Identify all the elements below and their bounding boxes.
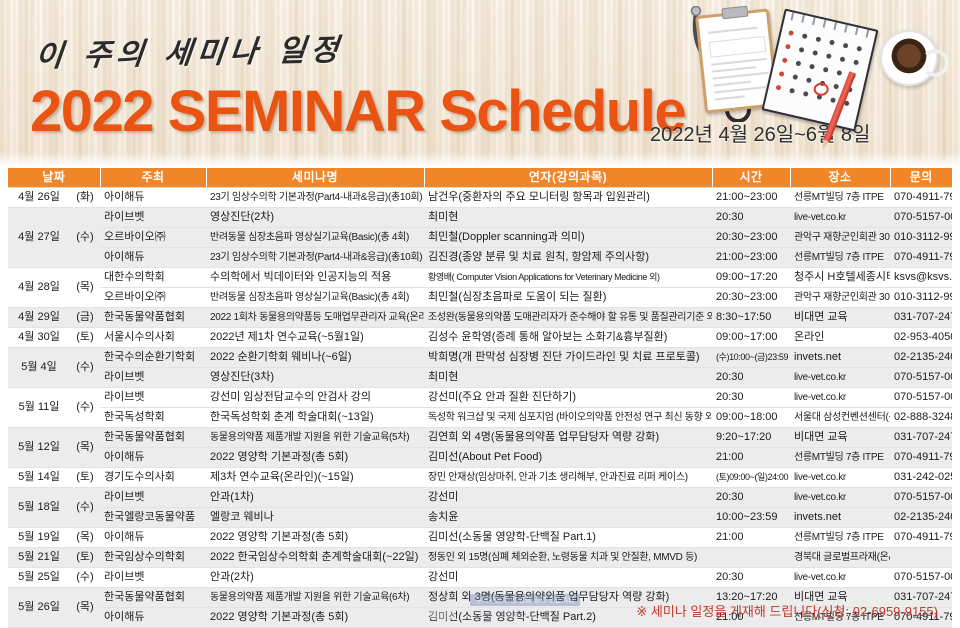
- cell-seminar-name: 영상진단(2차): [206, 208, 424, 228]
- table-row[interactable]: 5월 25일(수)라이브벳안과(2차)강선미20:30live-vet.co.k…: [8, 568, 952, 588]
- cell-date: 5월 11일: [8, 388, 70, 428]
- cell-time: (수)10:00~(금)23:59: [712, 348, 790, 368]
- cell-host: 한국엘랑코동물약품: [100, 508, 206, 528]
- cell-place: 관악구 재향군인회관 301호: [790, 288, 890, 308]
- table-row[interactable]: 한국독성학회한국독성학회 춘계 학술대회(~13일)독성학 워크샵 및 국제 심…: [8, 408, 952, 428]
- cell-contact: 010-3112-9924: [890, 288, 952, 308]
- banner-artwork: [676, 4, 946, 154]
- cell-seminar-name: 반려동물 심장초음파 영상실기교육(Basic)(총 4회): [206, 228, 424, 248]
- cell-seminar-name: 2022 순환기학회 웨비나(~6일): [206, 348, 424, 368]
- cell-day-of-week: (화): [70, 188, 100, 208]
- cell-seminar-name: 수의학에서 빅데이터와 인공지능의 적용: [206, 268, 424, 288]
- cell-contact: 070-4911-7921: [890, 528, 952, 548]
- cell-time: 21:00: [712, 528, 790, 548]
- cell-lecturer: 김성수 윤학영(증례 통해 알아보는 소화기&흉부질환): [424, 328, 712, 348]
- cell-date: 5월 14일: [8, 468, 70, 488]
- table-row[interactable]: 4월 26일(화)아이해듀23기 임상수의학 기본과정(Part4-내과&응급)…: [8, 188, 952, 208]
- cell-time: 10:00~23:59: [712, 508, 790, 528]
- cell-lecturer: 강선미: [424, 488, 712, 508]
- table-row[interactable]: 5월 19일(목)아이해듀2022 영양학 기본과정(총 5회)김미선(소동물 …: [8, 528, 952, 548]
- table-row[interactable]: 5월 21일(토)한국임상수의학회2022 한국임상수의학회 춘계학술대회(~2…: [8, 548, 952, 568]
- cell-host: 라이브벳: [100, 488, 206, 508]
- cell-contact: 031-707-2470: [890, 308, 952, 328]
- col-header-time[interactable]: 시간: [712, 168, 790, 188]
- clipboard-clip: [721, 6, 748, 20]
- cell-seminar-name: 안과(1차): [206, 488, 424, 508]
- cell-contact: 02-953-4050: [890, 328, 952, 348]
- cell-seminar-name: 2022 1회차 동물용의약품등 도매업무관리자 교육(온라인): [206, 308, 424, 328]
- cell-contact: 031-242-0258: [890, 468, 952, 488]
- cell-place: live-vet.co.kr: [790, 388, 890, 408]
- table-row[interactable]: 오르바이오㈜반려동물 심장초음파 영상실기교육(Basic)(총 4회)최민철(…: [8, 228, 952, 248]
- col-header-lecturer[interactable]: 연자(강의과목): [424, 168, 712, 188]
- cell-time: 21:00~23:00: [712, 248, 790, 268]
- cell-lecturer: 조성완(동물용의약품 도매관리자가 준수해야 할 유통 및 품질관리기준 외): [424, 308, 712, 328]
- cell-seminar-name: 영상진단(3차): [206, 368, 424, 388]
- cell-time: 21:00: [712, 448, 790, 468]
- banner-brush-title: 이 주의 세미나 일정: [33, 25, 345, 75]
- cell-host: 아이해듀: [100, 448, 206, 468]
- cell-host: 라이브벳: [100, 388, 206, 408]
- cell-contact: 070-4911-7921: [890, 188, 952, 208]
- cell-seminar-name: 제3차 연수교육(온라인)(~15일): [206, 468, 424, 488]
- cell-host: 아이해듀: [100, 528, 206, 548]
- schedule-table-body: 4월 26일(화)아이해듀23기 임상수의학 기본과정(Part4-내과&응급)…: [8, 188, 952, 628]
- cell-contact: 070-4911-7921: [890, 248, 952, 268]
- cell-time: 20:30: [712, 388, 790, 408]
- cell-lecturer: 강선미(주요 안과 질환 진단하기): [424, 388, 712, 408]
- cell-contact: 070-5157-0084: [890, 388, 952, 408]
- cell-time: (토)09:00~(일)24:00: [712, 468, 790, 488]
- cell-contact: 070-5157-0084: [890, 568, 952, 588]
- cell-seminar-name: 한국독성학회 춘계 학술대회(~13일): [206, 408, 424, 428]
- cell-host: 경기도수의사회: [100, 468, 206, 488]
- cell-time: 20:30: [712, 368, 790, 388]
- cell-lecturer: 김연희 외 4명(동물용의약품 업무담당자 역량 강화): [424, 428, 712, 448]
- cell-lecturer: 최민철(Doppler scanning과 의미): [424, 228, 712, 248]
- cell-seminar-name: 2022년 제1차 연수교육(~5월1일): [206, 328, 424, 348]
- cell-host: 아이해듀: [100, 608, 206, 628]
- cell-lecturer: 최미현: [424, 208, 712, 228]
- cell-contact: ksvs@ksvs.or.kr: [890, 268, 952, 288]
- cell-day-of-week: (수): [70, 568, 100, 588]
- cell-day-of-week: (목): [70, 588, 100, 628]
- cell-contact: 070-5157-0084: [890, 208, 952, 228]
- cell-place: invets.net: [790, 348, 890, 368]
- col-header-date[interactable]: 날짜: [8, 168, 100, 188]
- cell-lecturer: 김진경(종양 분류 및 치료 원칙, 항암제 주의사항): [424, 248, 712, 268]
- cell-place: 청주시 H호텔세종시티: [790, 268, 890, 288]
- schedule-table-container: 날짜 주최 세미나명 연자(강의과목) 시간 장소 문의 4월 26일(화)아이…: [0, 168, 960, 628]
- cell-place: live-vet.co.kr: [790, 368, 890, 388]
- cell-date: 4월 30일: [8, 328, 70, 348]
- cell-lecturer: 남건우(중환자의 주요 모니터링 항목과 입원관리): [424, 188, 712, 208]
- col-header-place[interactable]: 장소: [790, 168, 890, 188]
- table-row[interactable]: 4월 27일(수)라이브벳영상진단(2차)최미현20:30live-vet.co…: [8, 208, 952, 228]
- cell-lecturer: 황영배( Computer Vision Applications for Ve…: [424, 268, 712, 288]
- cell-host: 한국동물약품협회: [100, 428, 206, 448]
- table-row[interactable]: 4월 30일(토)서울시수의사회2022년 제1차 연수교육(~5월1일)김성수…: [8, 328, 952, 348]
- cell-date: 5월 12일: [8, 428, 70, 468]
- cell-contact: 031-707-2470: [890, 428, 952, 448]
- cell-lecturer: 정동인 외 15명(심폐 체외순환, 노령동물 치과 및 안질환, MMVD 등…: [424, 548, 712, 568]
- cell-seminar-name: 23기 임상수의학 기본과정(Part4-내과&응급)(총10회): [206, 248, 424, 268]
- cell-lecturer: 최민철(심장초음파로 도움이 되는 질환): [424, 288, 712, 308]
- cell-lecturer: 독성학 워크샵 및 국제 심포지엄 (바이오의약품 안전성 연구 최신 동향 외…: [424, 408, 712, 428]
- table-row[interactable]: 한국엘랑코동물약품엘랑코 웨비나송치윤10:00~23:59invets.net…: [8, 508, 952, 528]
- table-header-row: 날짜 주최 세미나명 연자(강의과목) 시간 장소 문의: [8, 168, 952, 188]
- cell-day-of-week: (토): [70, 328, 100, 348]
- cell-time: 09:00~18:00: [712, 408, 790, 428]
- cell-host: 아이해듀: [100, 248, 206, 268]
- cell-place: 경북대 글로벌프라재(온&오프): [790, 548, 890, 568]
- cell-seminar-name: 2022 영양학 기본과정(총 5회): [206, 448, 424, 468]
- cell-date: 4월 27일: [8, 208, 70, 268]
- cell-day-of-week: (목): [70, 268, 100, 308]
- cell-contact: 02-2135-2408: [890, 508, 952, 528]
- cell-place: 선릉MT빌딩 7층 ITPE: [790, 448, 890, 468]
- cell-date: 5월 25일: [8, 568, 70, 588]
- cell-place: live-vet.co.kr: [790, 488, 890, 508]
- cell-seminar-name: 2022 한국임상수의학회 춘계학술대회(~22일): [206, 548, 424, 568]
- table-row[interactable]: 아이해듀23기 임상수의학 기본과정(Part4-내과&응급)(총10회)김진경…: [8, 248, 952, 268]
- table-row[interactable]: 4월 28일(목)대한수의학회수의학에서 빅데이터와 인공지능의 적용황영배( …: [8, 268, 952, 288]
- cell-contact: 02-2135-2408: [890, 348, 952, 368]
- cell-place: invets.net: [790, 508, 890, 528]
- cell-contact: 010-3112-9924: [890, 228, 952, 248]
- cell-seminar-name: 2022 영양학 기본과정(총 5회): [206, 528, 424, 548]
- cell-host: 라이브벳: [100, 208, 206, 228]
- cell-place: live-vet.co.kr: [790, 208, 890, 228]
- cell-date: 5월 18일: [8, 488, 70, 528]
- cell-date: 5월 4일: [8, 348, 70, 388]
- footer-note: ※ 세미나 일정을 게재해 드립니다(신청: 02-6959-9155): [636, 601, 938, 620]
- table-row[interactable]: 라이브벳영상진단(3차)최미현20:30live-vet.co.kr070-51…: [8, 368, 952, 388]
- cell-host: 대한수의학회: [100, 268, 206, 288]
- cell-seminar-name: 엘랑코 웨비나: [206, 508, 424, 528]
- cell-host: 서울시수의사회: [100, 328, 206, 348]
- cell-place: 비대면 교육: [790, 308, 890, 328]
- cell-seminar-name: 안과(2차): [206, 568, 424, 588]
- cell-host: 오르바이오㈜: [100, 228, 206, 248]
- cell-date: 5월 26일: [8, 588, 70, 628]
- table-row[interactable]: 아이해듀2022 영양학 기본과정(총 5회)김미선(About Pet Foo…: [8, 448, 952, 468]
- cell-host: 오르바이오㈜: [100, 288, 206, 308]
- cell-time: [712, 548, 790, 568]
- cell-seminar-name: 동물용의약품 제품개발 지원을 위한 기술교육(5차): [206, 428, 424, 448]
- cell-date: 4월 26일: [8, 188, 70, 208]
- cell-day-of-week: (수): [70, 388, 100, 428]
- cell-day-of-week: (목): [70, 428, 100, 468]
- cell-place: 선릉MT빌딩 7층 ITPE: [790, 248, 890, 268]
- cell-host: 한국동물약품협회: [100, 308, 206, 328]
- cell-time: 09:00~17:20: [712, 268, 790, 288]
- table-row[interactable]: 오르바이오㈜반려동물 심장초음파 영상실기교육(Basic)(총 4회)최민철(…: [8, 288, 952, 308]
- table-row[interactable]: 5월 12일(목)한국동물약품협회동물용의약품 제품개발 지원을 위한 기술교육…: [8, 428, 952, 448]
- table-row[interactable]: 4월 29일(금)한국동물약품협회2022 1회차 동물용의약품등 도매업무관리…: [8, 308, 952, 328]
- cell-day-of-week: (목): [70, 528, 100, 548]
- cell-host: 아이해듀: [100, 188, 206, 208]
- cell-day-of-week: (토): [70, 468, 100, 488]
- cell-date: 5월 19일: [8, 528, 70, 548]
- cell-place: 관악구 재향군인회관 301호: [790, 228, 890, 248]
- cell-lecturer: 강선미: [424, 568, 712, 588]
- table-row[interactable]: 5월 14일(토)경기도수의사회제3차 연수교육(온라인)(~15일)장민 안재…: [8, 468, 952, 488]
- cell-contact: 02-888-3248: [890, 408, 952, 428]
- cell-place: 서울대 삼성컨벤션센터(온&오프): [790, 408, 890, 428]
- cell-host: 한국수의순환기학회: [100, 348, 206, 368]
- cell-day-of-week: (수): [70, 488, 100, 528]
- cell-contact: 070-5157-0084: [890, 368, 952, 388]
- cell-time: 09:00~17:00: [712, 328, 790, 348]
- cell-date: 4월 28일: [8, 268, 70, 308]
- cell-contact: 070-4911-7921: [890, 448, 952, 468]
- cell-time: 20:30~23:00: [712, 288, 790, 308]
- cell-host: 한국독성학회: [100, 408, 206, 428]
- cell-lecturer: 김미선(소동물 영양학-단백질 Part.1): [424, 528, 712, 548]
- schedule-table: 날짜 주최 세미나명 연자(강의과목) 시간 장소 문의 4월 26일(화)아이…: [8, 168, 952, 628]
- table-row[interactable]: 5월 4일(수)한국수의순환기학회2022 순환기학회 웨비나(~6일)박희명(…: [8, 348, 952, 368]
- cell-place: 비대면 교육: [790, 428, 890, 448]
- cell-date: 5월 21일: [8, 548, 70, 568]
- table-row[interactable]: 5월 11일(수)라이브벳강선미 임상전담교수의 안검사 강의강선미(주요 안과…: [8, 388, 952, 408]
- col-header-tel[interactable]: 문의: [890, 168, 952, 188]
- page-title: 2022 SEMINAR Schedule: [30, 78, 685, 145]
- cell-lecturer: 박희명(개 판막성 심장병 진단 가이드라인 및 치료 프로토콜): [424, 348, 712, 368]
- cell-host: 라이브벳: [100, 368, 206, 388]
- cell-place: 온라인: [790, 328, 890, 348]
- cell-host: 라이브벳: [100, 568, 206, 588]
- cell-place: 선릉MT빌딩 7층 ITPE: [790, 188, 890, 208]
- cell-host: 한국임상수의학회: [100, 548, 206, 568]
- cell-place: live-vet.co.kr: [790, 468, 890, 488]
- cell-lecturer: 김미선(About Pet Food): [424, 448, 712, 468]
- cell-place: 선릉MT빌딩 7층 ITPE: [790, 528, 890, 548]
- cell-day-of-week: (토): [70, 548, 100, 568]
- seminar-schedule-page: 이 주의 세미나 일정 2022 SEMINAR Schedule 2022년 …: [0, 0, 960, 628]
- cell-lecturer: 장민 안재상(임상마취, 안과 기초 생리해부, 안과진료 리퍼 케이스): [424, 468, 712, 488]
- col-header-host[interactable]: 주최: [100, 168, 206, 188]
- cell-time: 20:30: [712, 208, 790, 228]
- cell-time: 20:30: [712, 488, 790, 508]
- cell-host: 한국동물약품협회: [100, 588, 206, 608]
- cell-day-of-week: (수): [70, 208, 100, 268]
- cell-seminar-name: 23기 임상수의학 기본과정(Part4-내과&응급)(총10회): [206, 188, 424, 208]
- cell-day-of-week: (수): [70, 348, 100, 388]
- cell-lecturer: 송치윤: [424, 508, 712, 528]
- cell-place: live-vet.co.kr: [790, 568, 890, 588]
- cell-seminar-name: 동물용의약품 제품개발 지원을 위한 기술교육(6차): [206, 588, 424, 608]
- cell-seminar-name: 강선미 임상전담교수의 안검사 강의: [206, 388, 424, 408]
- cell-lecturer: 최미현: [424, 368, 712, 388]
- cell-day-of-week: (금): [70, 308, 100, 328]
- cell-time: 20:30~23:00: [712, 228, 790, 248]
- cell-contact: 070-5157-0084: [890, 488, 952, 508]
- cell-time: 9:20~17:20: [712, 428, 790, 448]
- cell-time: 20:30: [712, 568, 790, 588]
- col-header-name[interactable]: 세미나명: [206, 168, 424, 188]
- cell-time: 8:30~17:50: [712, 308, 790, 328]
- cell-date: 4월 29일: [8, 308, 70, 328]
- header-banner: 이 주의 세미나 일정 2022 SEMINAR Schedule 2022년 …: [0, 0, 960, 168]
- cell-seminar-name: 반려동물 심장초음파 영상실기교육(Basic)(총 4회): [206, 288, 424, 308]
- cell-time: 21:00~23:00: [712, 188, 790, 208]
- cell-seminar-name: 2022 영양학 기본과정(총 5회): [206, 608, 424, 628]
- coffee-cup-icon: [880, 30, 938, 86]
- table-row[interactable]: 5월 18일(수)라이브벳안과(1차)강선미20:30live-vet.co.k…: [8, 488, 952, 508]
- cell-contact: [890, 548, 952, 568]
